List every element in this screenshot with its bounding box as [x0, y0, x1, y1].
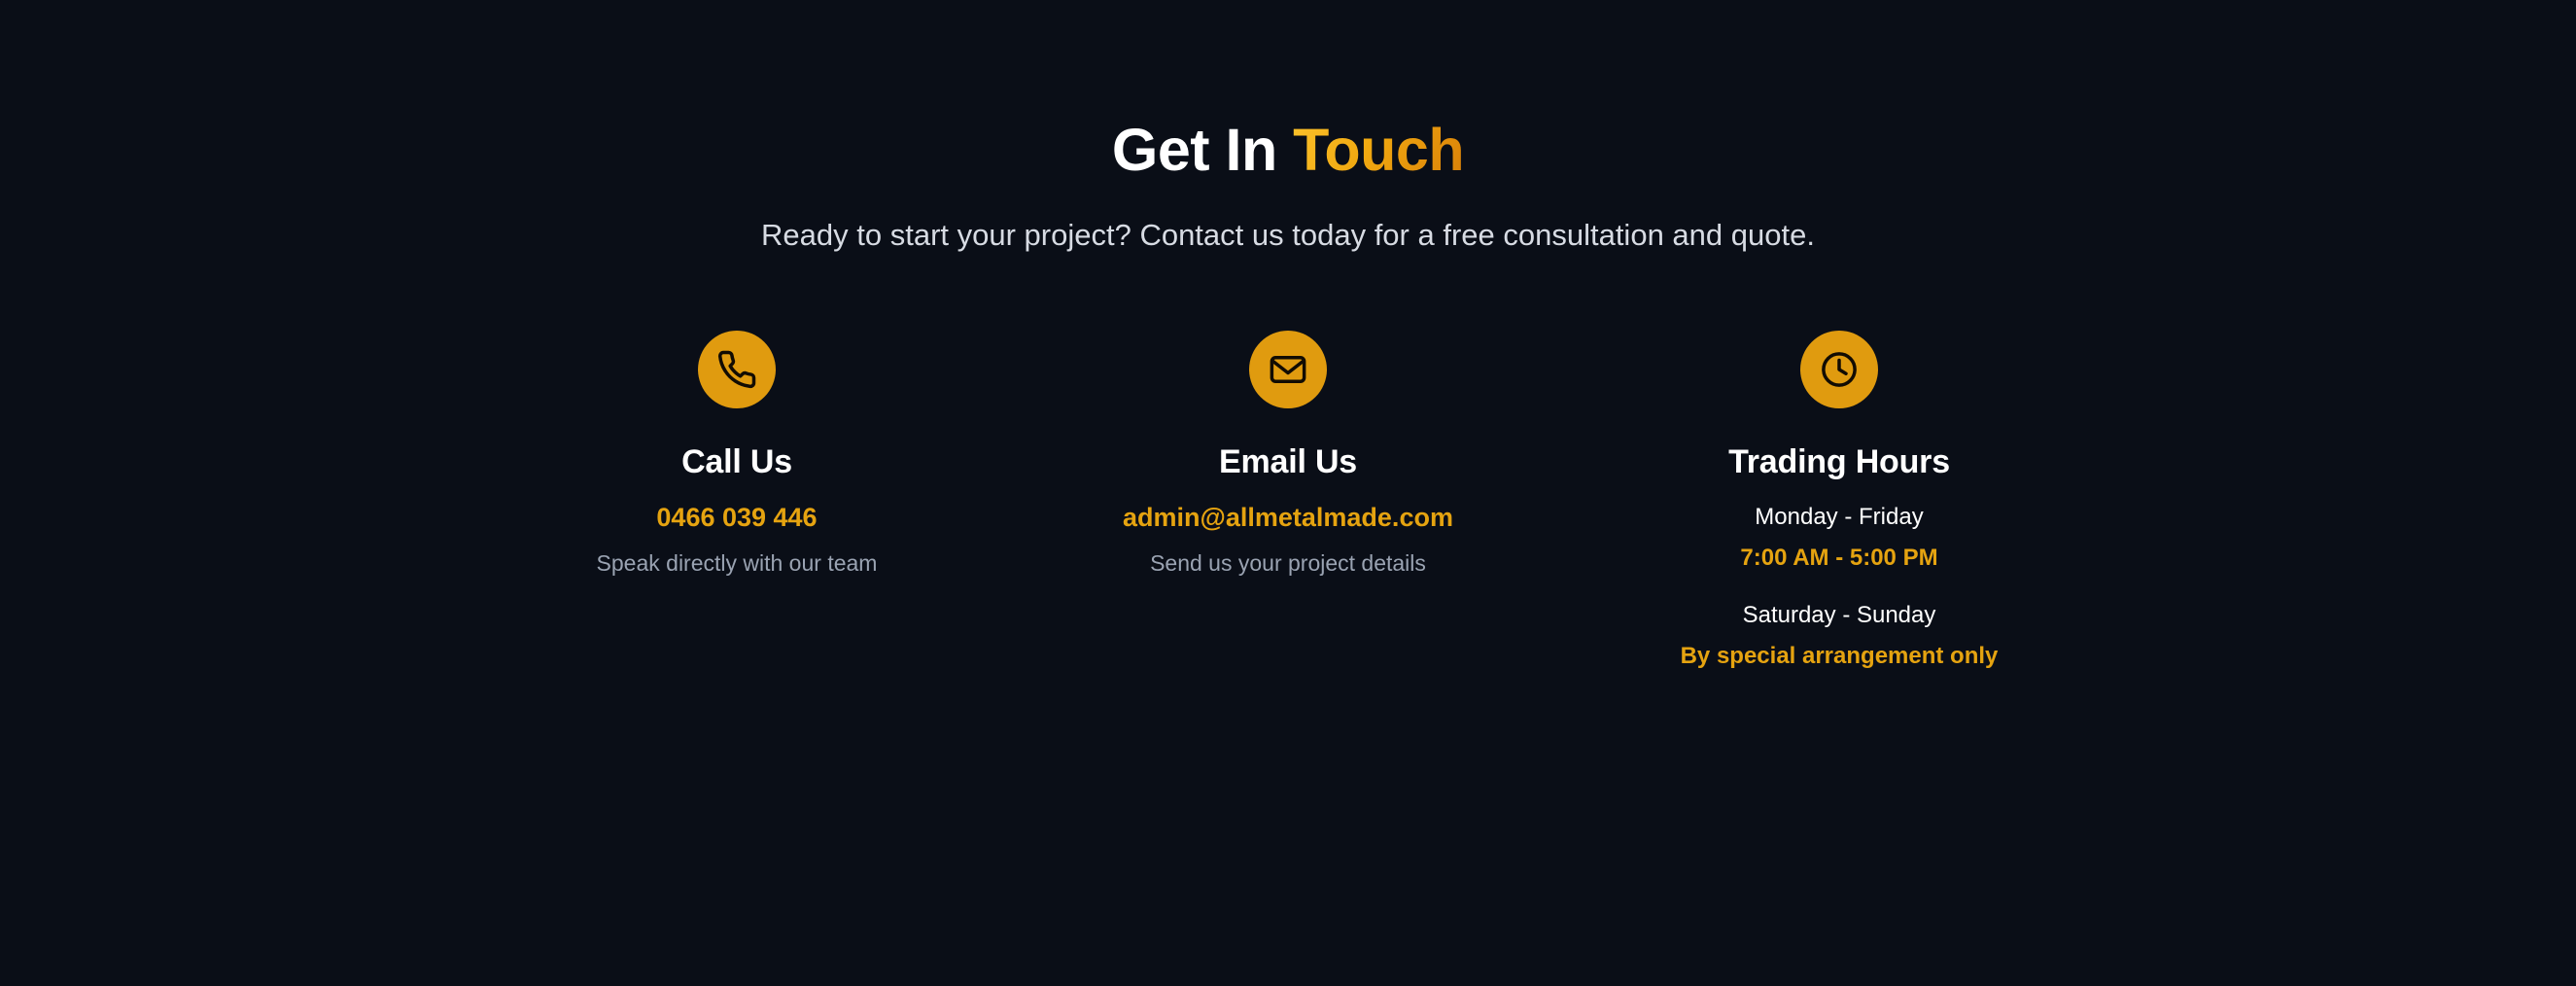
trading-hours-row: Saturday - Sunday By special arrangement… [1681, 600, 1999, 671]
contact-card-email: Email Us admin@allmetalmade.com Send us … [1013, 331, 1564, 579]
page-title: Get In Touch [1112, 117, 1464, 183]
trading-hours-time: By special arrangement only [1681, 641, 1999, 671]
contact-card-hours: Trading Hours Monday - Friday 7:00 AM - … [1564, 331, 2115, 672]
contact-card-note: Speak directly with our team [597, 549, 878, 579]
page-title-accent: Touch [1293, 117, 1464, 183]
envelope-icon [1249, 331, 1327, 408]
trading-hours-day: Saturday - Sunday [1743, 600, 1936, 630]
trading-hours-time: 7:00 AM - 5:00 PM [1740, 543, 1937, 573]
email-address-link[interactable]: admin@allmetalmade.com [1123, 502, 1453, 535]
trading-hours-day: Monday - Friday [1755, 502, 1923, 532]
contact-cards: Call Us 0466 039 446 Speak directly with… [0, 331, 2576, 672]
phone-icon [698, 331, 776, 408]
contact-section: Get In Touch Ready to start your project… [0, 0, 2576, 986]
page-title-plain: Get In [1112, 117, 1293, 183]
contact-card-call: Call Us 0466 039 446 Speak directly with… [462, 331, 1013, 579]
contact-card-title: Trading Hours [1728, 442, 1950, 482]
phone-number-link[interactable]: 0466 039 446 [656, 502, 817, 535]
trading-hours-list: Monday - Friday 7:00 AM - 5:00 PM Saturd… [1681, 502, 1999, 672]
trading-hours-row: Monday - Friday 7:00 AM - 5:00 PM [1740, 502, 1937, 573]
contact-card-title: Call Us [681, 442, 792, 482]
clock-icon [1800, 331, 1878, 408]
contact-card-title: Email Us [1219, 442, 1357, 482]
contact-card-note: Send us your project details [1150, 549, 1426, 579]
page-subtitle: Ready to start your project? Contact us … [761, 214, 1815, 256]
